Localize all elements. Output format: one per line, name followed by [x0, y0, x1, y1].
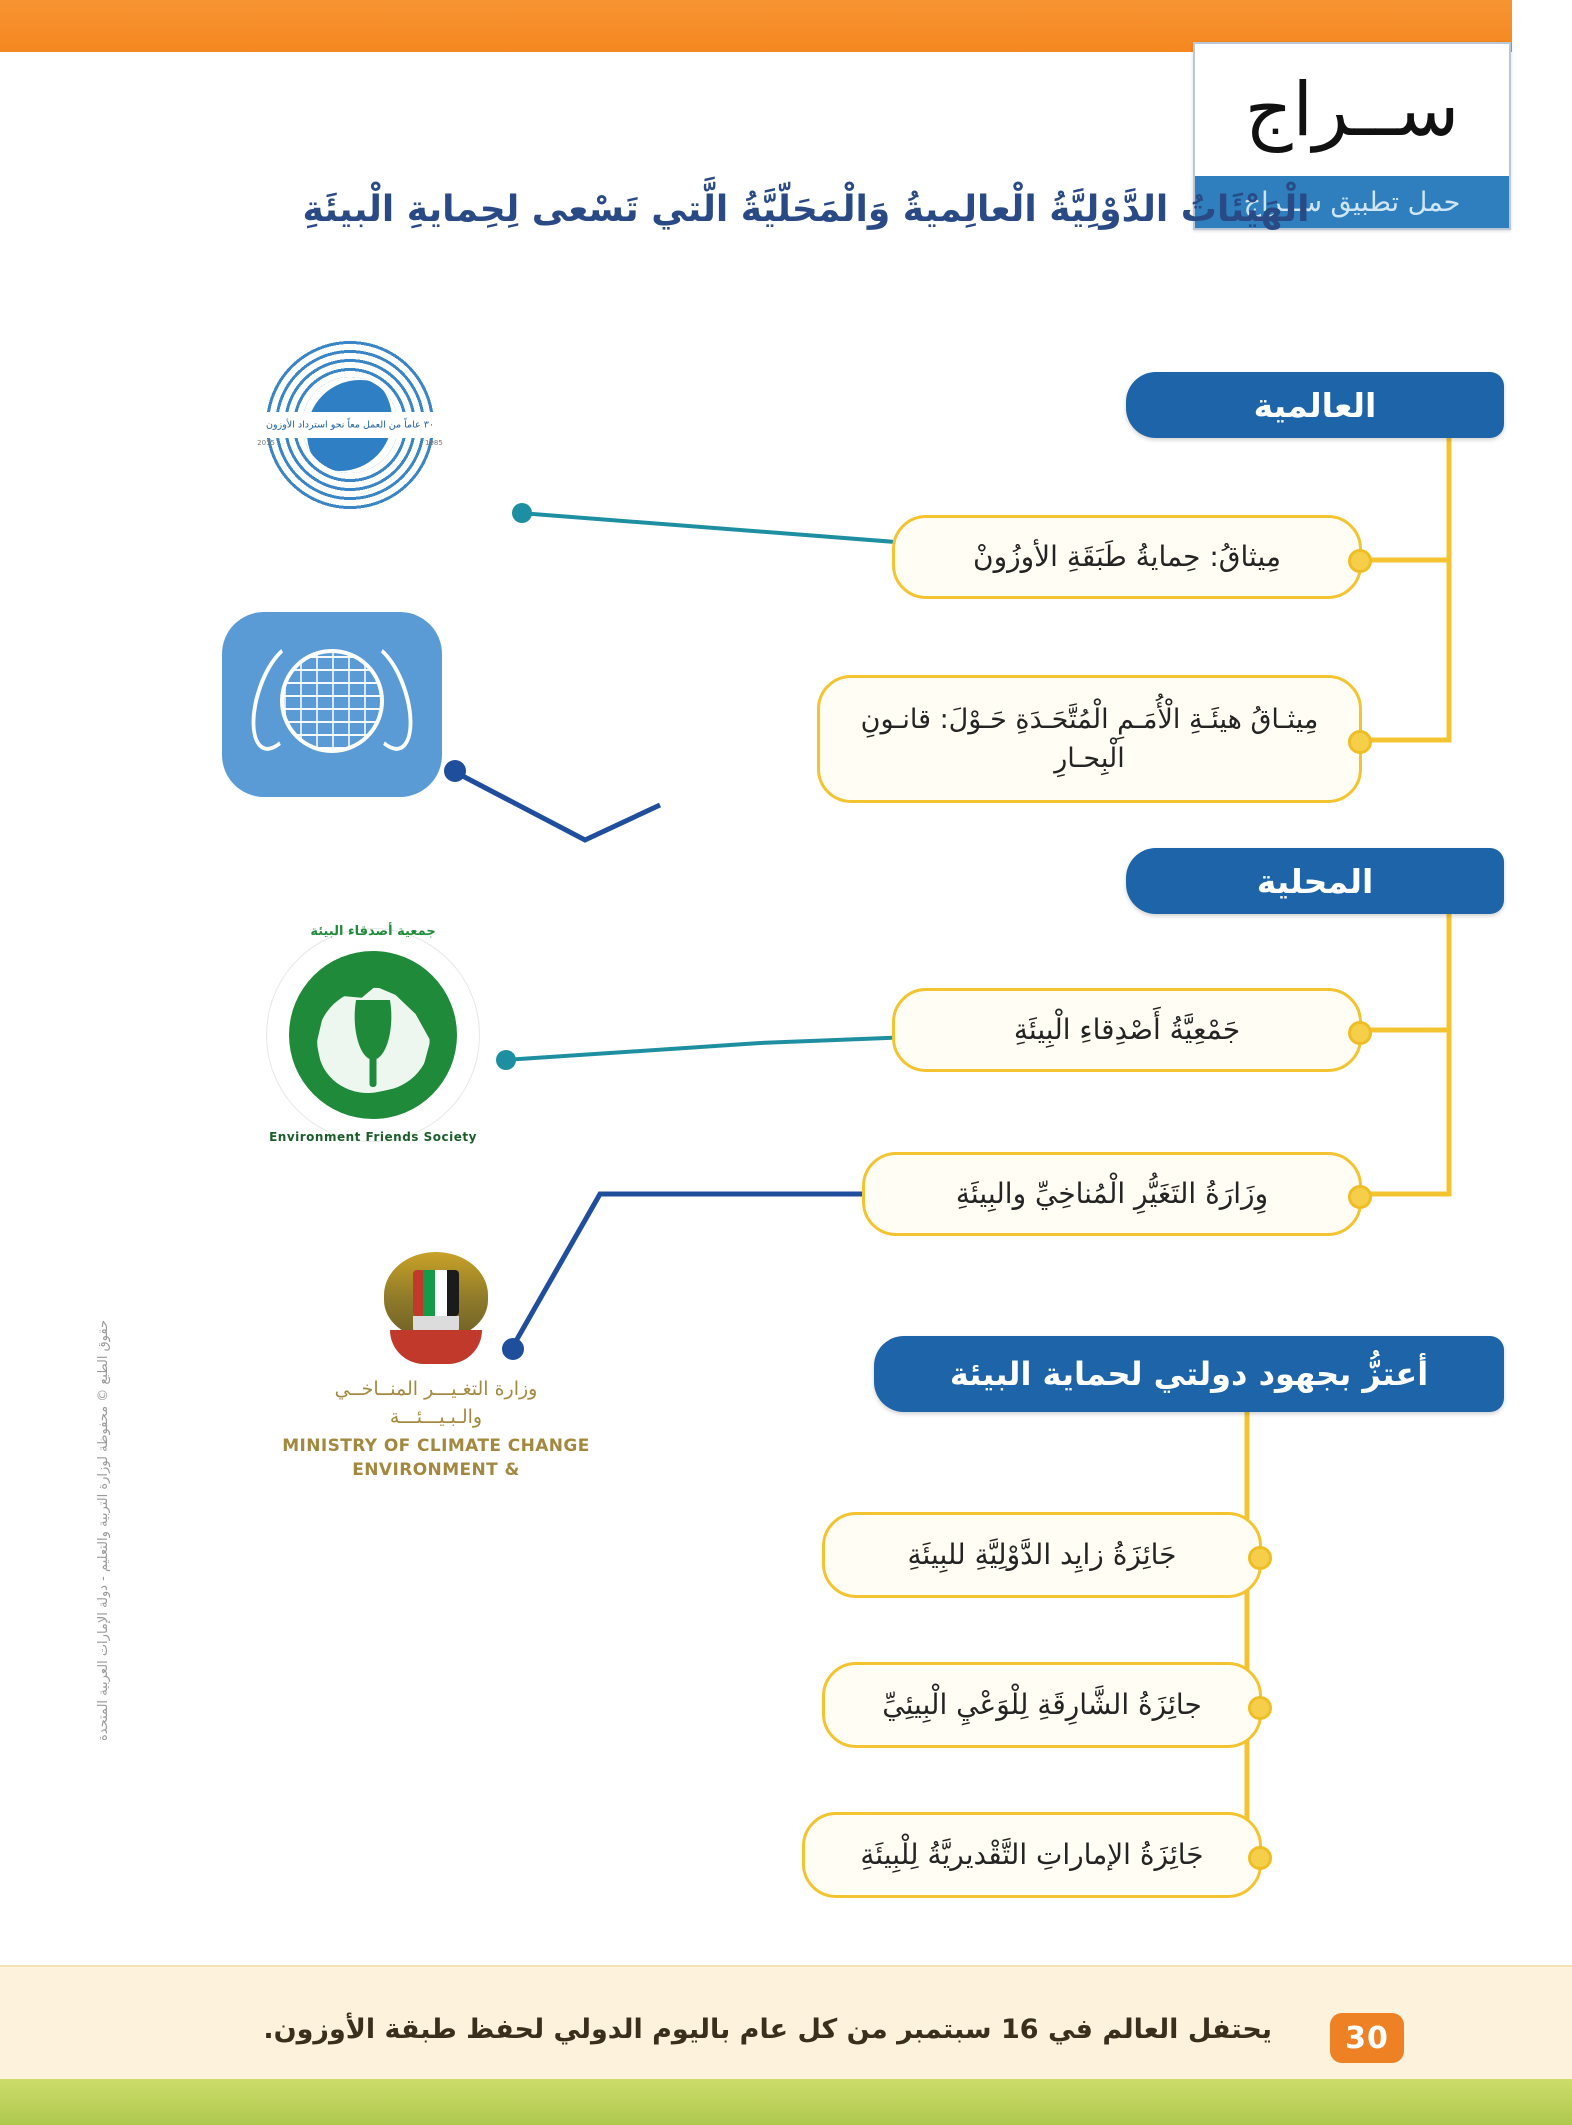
- node-dot-moccae: [1348, 1185, 1372, 1209]
- node-dot-ozone: [1348, 549, 1372, 573]
- node-dot-moccae-logo: [502, 1338, 524, 1360]
- node-dot-unclos: [1348, 730, 1372, 754]
- ozone-caption-text: ٣٠ عاماً من العمل معاً نحو استرداد الأوز…: [225, 420, 475, 431]
- section-header-local: المحلية: [1126, 848, 1504, 914]
- item-ozone-charter[interactable]: مِيثاقُ: حِمايةُ طَبَقَةِ الأوزُونْ: [892, 515, 1362, 599]
- item-environment-friends-society[interactable]: جَمْعِيَّةُ أَصْدِقاءِ الْبِيئَةِ: [892, 988, 1362, 1072]
- page-number-badge: 30: [1330, 2013, 1404, 2063]
- item-zayed-award[interactable]: جَائِزَةُ زايِد الدَّوْلِيَّةِ للبِيئَةِ: [822, 1512, 1262, 1598]
- environment-friends-society-logo: جمعية أصدقاء البيئة Environment Friends …: [238, 900, 508, 1170]
- section-header-global: العالمية: [1126, 372, 1504, 438]
- ozone-year-to: 2015: [257, 439, 275, 447]
- node-dot-efs-logo: [496, 1050, 516, 1070]
- moccae-english-line1: MINISTRY OF CLIMATE CHANGE: [236, 1436, 636, 1456]
- node-dot-eea: [1248, 1846, 1272, 1870]
- item-sharjah-award[interactable]: جائِزَةُ الشَّارِقَةِ لِلْوَعْيِ الْبِيئ…: [822, 1662, 1262, 1748]
- page-title: الْهَيْئَاتُ الدَّوْلِيَّةُ الْعالِميةُ …: [160, 186, 1452, 235]
- moccae-arabic-line1: وزارة التغـيـــر المنــاخــي: [236, 1378, 636, 1400]
- node-dot-zayed: [1248, 1546, 1272, 1570]
- moccae-english-line2: & ENVIRONMENT: [236, 1460, 636, 1480]
- efs-palm-tree-icon: [341, 1000, 405, 1092]
- item-unclos-charter[interactable]: مِيثـاقُ هيئَـةِ الْأُمَـمِ الْمُتَّحَـد…: [817, 675, 1362, 803]
- moccae-logo: وزارة التغـيـــر المنــاخــي والـبـيـــئ…: [236, 1236, 636, 1506]
- efs-arabic-name: جمعية أصدقاء البيئة: [238, 924, 508, 939]
- ozone-years: 1985 2015: [225, 439, 475, 447]
- item-ministry-climate-change[interactable]: وِزَارَةُ التَغَيُّرِ الْمُناخِيِّ والبِ…: [862, 1152, 1362, 1236]
- moccae-arabic-line2: والـبـيـــئـــة: [236, 1406, 636, 1428]
- node-dot-un-logo: [444, 760, 466, 782]
- footer-note: يحتفل العالم في 16 سبتمبر من كل عام بالي…: [300, 2014, 1272, 2045]
- node-dot-sharjah: [1248, 1696, 1272, 1720]
- united-nations-logo: [222, 612, 442, 797]
- uae-flag-shield-icon: [413, 1270, 459, 1316]
- efs-english-name: Environment Friends Society: [238, 1130, 508, 1144]
- section-header-awards: أعتزُّ بجهود دولتي لحماية البيئة: [874, 1336, 1504, 1412]
- top-bar-tail: [1512, 0, 1572, 52]
- item-emirates-appreciation-award[interactable]: جَائِزَةُ الإماراتِ التَّقْديريَّةُ لِلْ…: [802, 1812, 1262, 1898]
- siraj-brand-text: ســراج: [1195, 44, 1509, 176]
- ozone-anniversary-logo: ٣٠ عاماً من العمل معاً نحو استرداد الأوز…: [190, 330, 510, 520]
- side-copyright-note: حقوق الطبع © محفوظة لوزارة التربية والتع…: [96, 1320, 111, 1741]
- ozone-year-from: 1985: [425, 439, 443, 447]
- node-dot-efs: [1348, 1021, 1372, 1045]
- document-page: ســراج حمل تطبيق ســراج الْهَيْئَاتُ الد…: [0, 0, 1572, 2125]
- uae-falcon-emblem-icon: [376, 1244, 496, 1364]
- falcon-base: [390, 1330, 482, 1364]
- node-dot-ozone-logo: [512, 503, 532, 523]
- bottom-green-band: [0, 2079, 1572, 2125]
